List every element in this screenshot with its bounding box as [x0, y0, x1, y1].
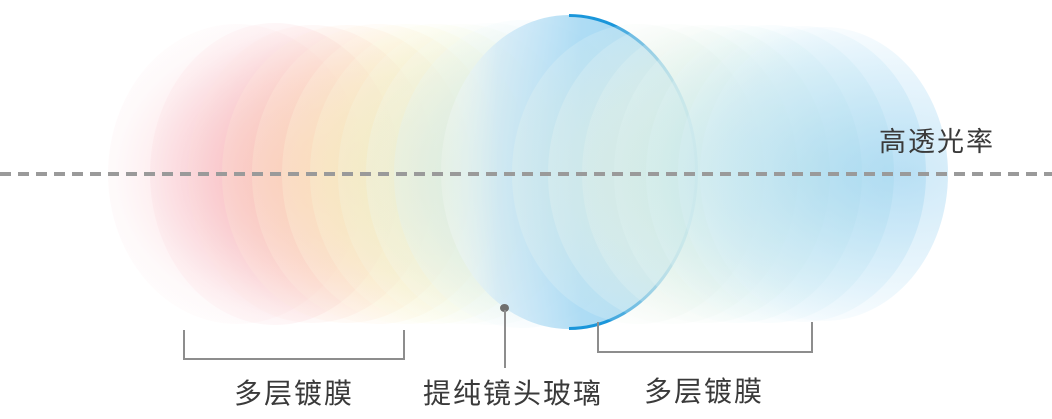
- label-coating-right: 多层镀膜: [644, 370, 764, 410]
- label-high-transmittance: 高透光率: [879, 120, 995, 159]
- bracket-coating-left: [183, 330, 405, 360]
- label-center-glass: 提纯镜头玻璃: [423, 372, 603, 412]
- pointer-line-center-glass: [504, 310, 506, 368]
- bracket-coating-right: [597, 322, 813, 353]
- lens-coating-diagram: 多层镀膜 提纯镜头玻璃 多层镀膜 高透光率: [0, 0, 1052, 419]
- optical-axis-dashed-line: [0, 172, 1052, 176]
- label-coating-left: 多层镀膜: [234, 372, 354, 412]
- lens-layer-stack: [0, 0, 1052, 419]
